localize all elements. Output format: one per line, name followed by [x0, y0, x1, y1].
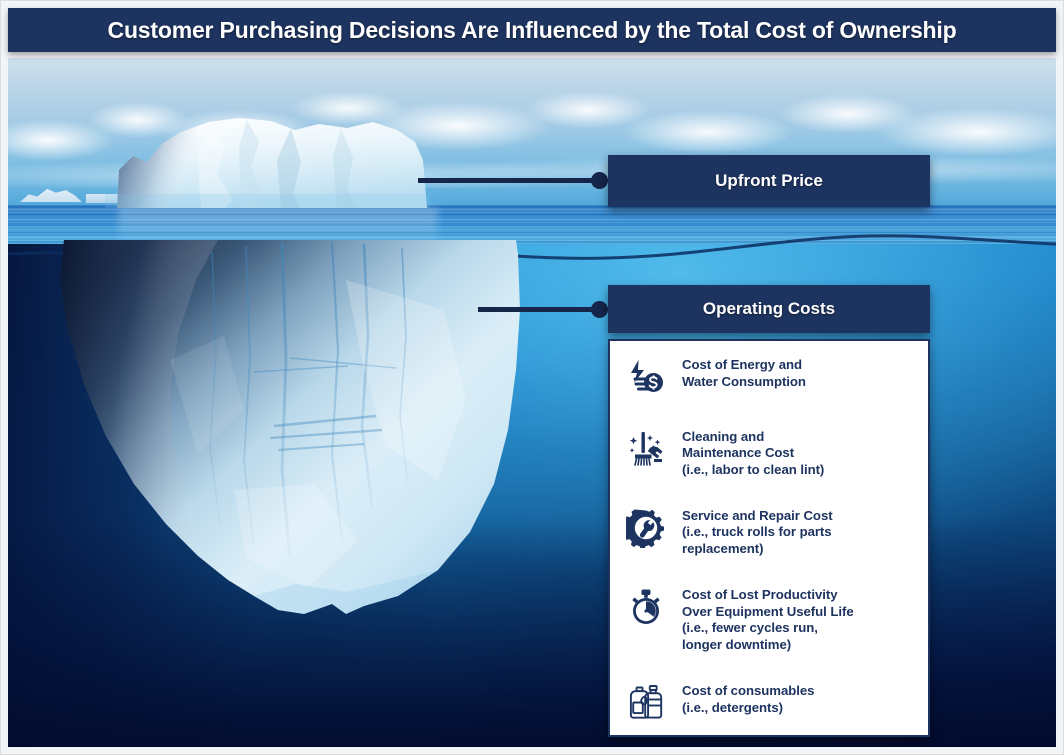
page-title: Customer Purchasing Decisions Are Influe… [108, 17, 957, 44]
list-item: Cost of Lost ProductivityOver Equipment … [624, 585, 916, 653]
connector-dot-icon [591, 172, 608, 189]
list-item-label: Cost of consumables(i.e., detergents) [682, 681, 814, 716]
connector-line-operating [478, 307, 600, 312]
iceberg-below-water [46, 240, 536, 690]
callout-operating-costs-label: Operating Costs [703, 299, 835, 319]
connector-dot-icon [591, 301, 608, 318]
gear-wrench-icon [624, 506, 668, 550]
callout-upfront-price-label: Upfront Price [715, 171, 823, 191]
iceberg-scene: Upfront Price Operating Costs [8, 58, 1056, 747]
poster-title-bar: Customer Purchasing Decisions Are Influe… [8, 8, 1056, 52]
list-item: Cleaning andMaintenance Cost(i.e., labor… [624, 427, 916, 479]
cleaning-brush-icon [624, 427, 668, 471]
list-item-label: Cost of Lost ProductivityOver Equipment … [682, 585, 854, 653]
list-item: Cost of consumables(i.e., detergents) [624, 681, 916, 725]
callout-operating-costs[interactable]: Operating Costs [608, 285, 930, 333]
list-item-label: Cost of Energy andWater Consumption [682, 355, 806, 390]
callout-upfront-price[interactable]: Upfront Price [608, 155, 930, 207]
iceberg-above-water [105, 116, 430, 206]
energy-coin-icon [624, 355, 668, 399]
list-item: Cost of Energy andWater Consumption [624, 355, 916, 399]
detergent-bottles-icon [624, 681, 668, 725]
connector-line-upfront [418, 178, 600, 183]
stopwatch-icon [624, 585, 668, 629]
infographic-poster: Customer Purchasing Decisions Are Influe… [0, 0, 1064, 755]
operating-costs-card: Cost of Energy andWater Consumption [608, 339, 930, 737]
list-item: Service and Repair Cost(i.e., truck roll… [624, 506, 916, 558]
list-item-label: Service and Repair Cost(i.e., truck roll… [682, 506, 833, 558]
list-item-label: Cleaning andMaintenance Cost(i.e., labor… [682, 427, 824, 479]
